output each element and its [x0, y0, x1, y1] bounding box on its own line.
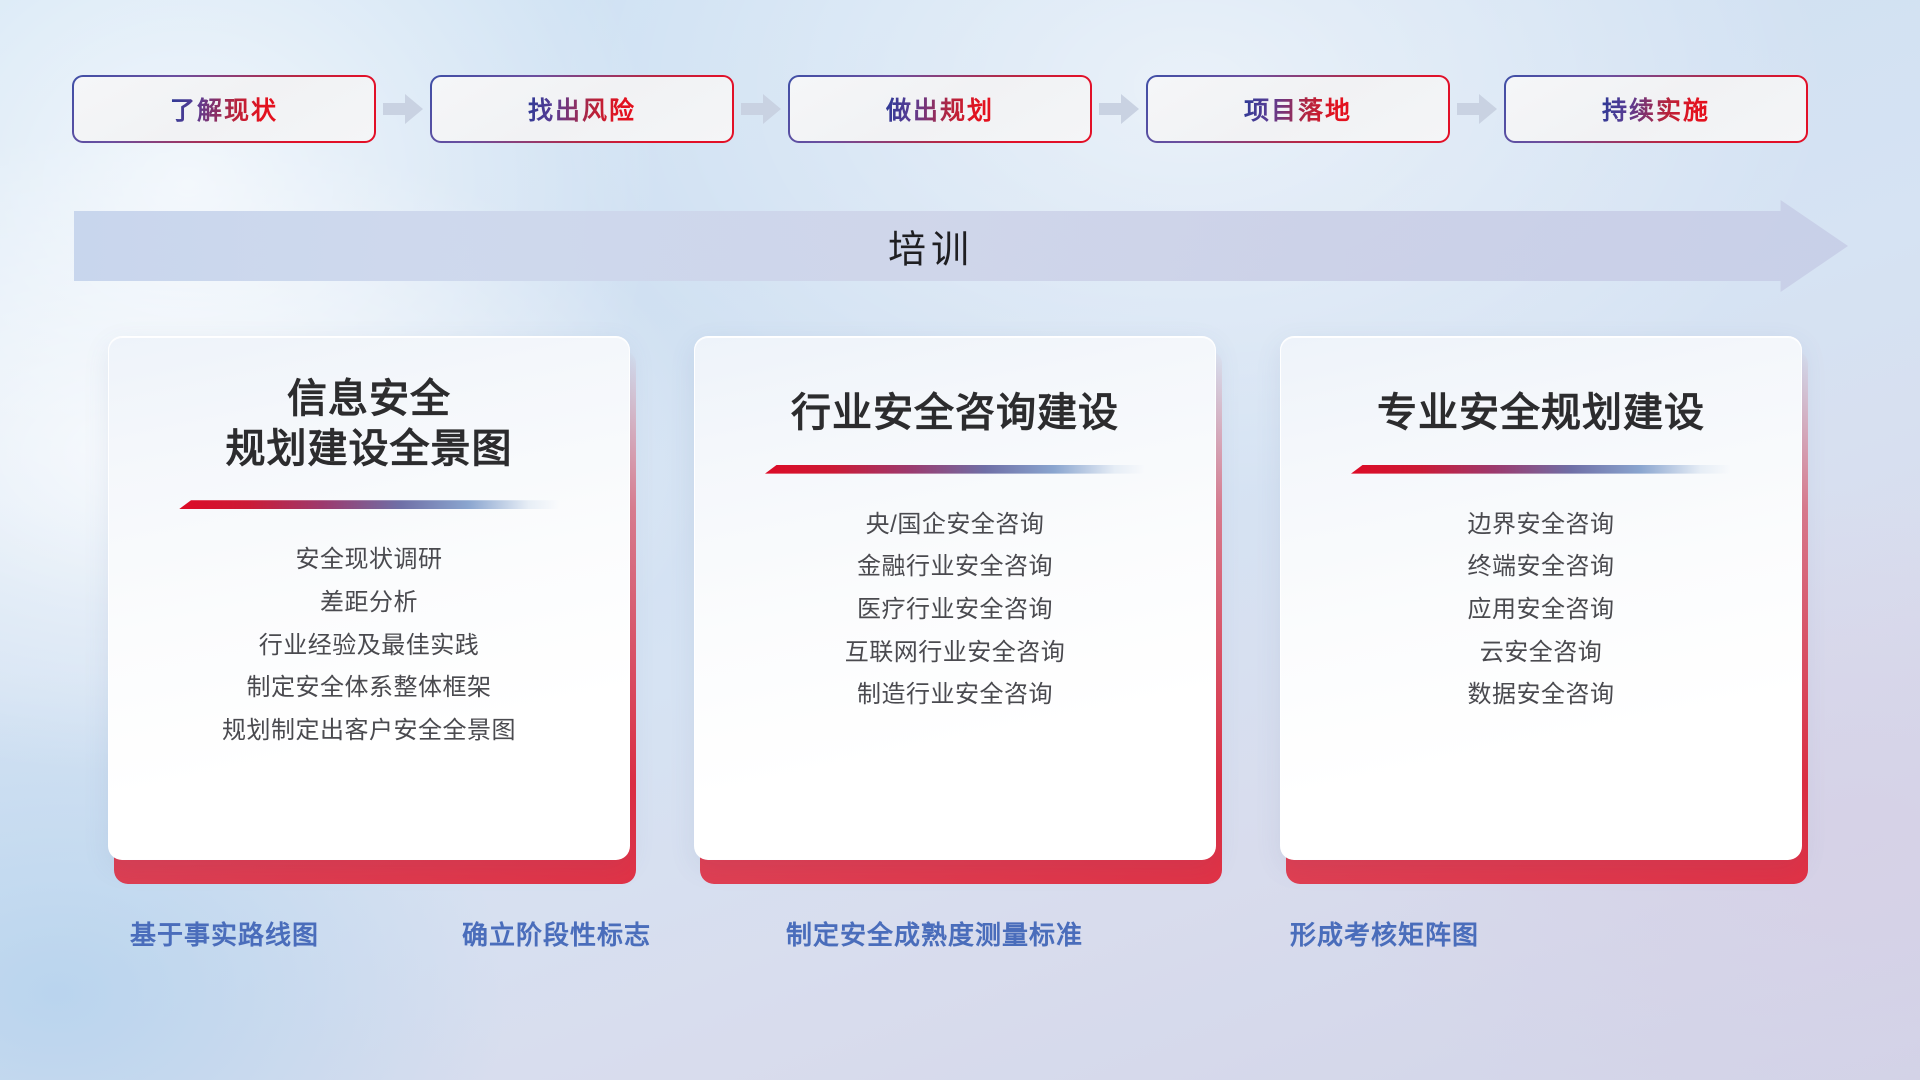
bottom-label-1: 确立阶段性标志 [462, 915, 651, 952]
list-item: 数据安全咨询 [1281, 674, 1801, 717]
list-item: 安全现状调研 [109, 539, 629, 582]
process-step-4[interactable]: 持续实施 [1506, 77, 1806, 141]
process-step-label: 项目落地 [1244, 91, 1352, 127]
card-2[interactable]: 专业安全规划建设 边界安全咨询 终端安全咨询 应用安全咨询 云安全咨询 数据安全… [1280, 336, 1808, 874]
list-item: 行业经验及最佳实践 [109, 625, 629, 668]
process-step-1[interactable]: 找出风险 [432, 77, 732, 141]
process-step-row: 了解现状 找出风险 做出规划 项目落地 [74, 76, 1848, 142]
card-title: 信息安全 规划建设全景图 [226, 375, 513, 474]
training-banner: 培训 [74, 200, 1848, 292]
card-title: 专业安全规划建设 [1377, 389, 1705, 439]
card-surface: 信息安全 规划建设全景图 安全现状调研 差距分析 行业经验及最佳实践 制定安全体… [108, 336, 630, 860]
card-title: 行业安全咨询建设 [791, 389, 1119, 439]
bottom-label-3: 形成考核矩阵图 [1290, 915, 1479, 952]
list-item: 制定安全体系整体框架 [109, 667, 629, 710]
list-item: 金融行业安全咨询 [695, 546, 1215, 589]
card-0[interactable]: 信息安全 规划建设全景图 安全现状调研 差距分析 行业经验及最佳实践 制定安全体… [108, 336, 636, 874]
list-item: 制造行业安全咨询 [695, 674, 1215, 717]
chevron-right-arrow-icon [732, 89, 790, 129]
process-step-label: 找出风险 [528, 91, 636, 127]
process-step-3[interactable]: 项目落地 [1148, 77, 1448, 141]
process-step-label: 持续实施 [1602, 91, 1710, 127]
card-item-list: 边界安全咨询 终端安全咨询 应用安全咨询 云安全咨询 数据安全咨询 [1281, 504, 1801, 718]
chevron-right-arrow-icon [1090, 89, 1148, 129]
list-item: 医疗行业安全咨询 [695, 589, 1215, 632]
list-item: 应用安全咨询 [1281, 589, 1801, 632]
bottom-label-0: 基于事实路线图 [130, 915, 319, 952]
list-item: 差距分析 [109, 582, 629, 625]
card-divider [1351, 465, 1731, 474]
list-item: 终端安全咨询 [1281, 546, 1801, 589]
process-step-label: 了解现状 [170, 91, 278, 127]
banner-title: 培训 [74, 219, 1848, 274]
card-surface: 专业安全规划建设 边界安全咨询 终端安全咨询 应用安全咨询 云安全咨询 数据安全… [1280, 336, 1802, 860]
card-divider [179, 500, 559, 509]
bottom-label-2: 制定安全成熟度测量标准 [786, 915, 1083, 952]
card-row: 信息安全 规划建设全景图 安全现状调研 差距分析 行业经验及最佳实践 制定安全体… [108, 336, 1808, 876]
list-item: 边界安全咨询 [1281, 504, 1801, 547]
slide-canvas: 了解现状 找出风险 做出规划 项目落地 [0, 0, 1920, 1080]
list-item: 规划制定出客户安全全景图 [109, 710, 629, 753]
list-item: 互联网行业安全咨询 [695, 632, 1215, 675]
chevron-right-arrow-icon [374, 89, 432, 129]
process-step-0[interactable]: 了解现状 [74, 77, 374, 141]
card-divider [765, 465, 1145, 474]
process-step-label: 做出规划 [886, 91, 994, 127]
card-item-list: 央/国企安全咨询 金融行业安全咨询 医疗行业安全咨询 互联网行业安全咨询 制造行… [695, 504, 1215, 718]
list-item: 云安全咨询 [1281, 632, 1801, 675]
card-1[interactable]: 行业安全咨询建设 央/国企安全咨询 金融行业安全咨询 医疗行业安全咨询 互联网行… [694, 336, 1222, 874]
bottom-label-row: 基于事实路线图 确立阶段性标志 制定安全成熟度测量标准 形成考核矩阵图 [0, 915, 1920, 965]
card-item-list: 安全现状调研 差距分析 行业经验及最佳实践 制定安全体系整体框架 规划制定出客户… [109, 539, 629, 753]
process-step-2[interactable]: 做出规划 [790, 77, 1090, 141]
chevron-right-arrow-icon [1448, 89, 1506, 129]
card-surface: 行业安全咨询建设 央/国企安全咨询 金融行业安全咨询 医疗行业安全咨询 互联网行… [694, 336, 1216, 860]
list-item: 央/国企安全咨询 [695, 504, 1215, 547]
